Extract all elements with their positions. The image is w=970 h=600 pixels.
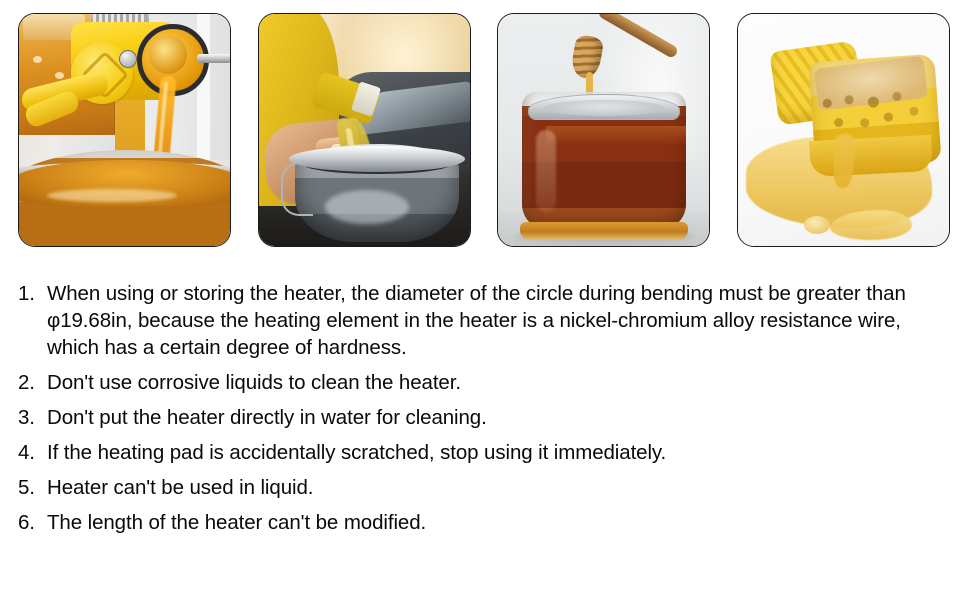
jar-highlight [536, 130, 556, 212]
list-item-number: 4. [18, 439, 47, 466]
list-item-text: Don't put the heater directly in water f… [47, 404, 958, 431]
list-item-number: 2. [18, 369, 47, 396]
list-item: 1. When using or storing the heater, the… [18, 280, 958, 361]
funnel-highlight [325, 190, 409, 224]
funnel-rim [289, 146, 465, 172]
list-item: 5. Heater can't be used in liquid. [18, 474, 958, 501]
list-item-number: 1. [18, 280, 47, 307]
jar-base-honey [520, 222, 688, 240]
photo-honey-jar-with-dipper [497, 13, 710, 247]
valve-rod [197, 54, 230, 63]
list-item: 6. The length of the heater can't be mod… [18, 509, 958, 536]
product-photo-strip [18, 13, 950, 247]
honeycomb-illustration [738, 14, 949, 246]
oil-pour-illustration [259, 14, 470, 246]
valve-screw [119, 50, 137, 68]
list-item: 2. Don't use corrosive liquids to clean … [18, 369, 958, 396]
funnel-handle-wire [281, 162, 313, 216]
product-listing-image: 1. When using or storing the heater, the… [0, 0, 970, 600]
jar-mouth [544, 100, 664, 116]
list-item-text: When using or storing the heater, the di… [47, 280, 958, 361]
photo-honey-gate-valve [18, 13, 231, 247]
honey-jar-illustration [498, 14, 709, 246]
list-item-number: 5. [18, 474, 47, 501]
list-item-number: 6. [18, 509, 47, 536]
list-item-number: 3. [18, 404, 47, 431]
honey-gate-valve-illustration [19, 14, 230, 246]
photo-pouring-oil-into-funnel [258, 13, 471, 247]
honeycomb-lower-edge [809, 135, 933, 177]
usage-precautions-list: 1. When using or storing the heater, the… [18, 280, 958, 536]
list-item-text: The length of the heater can't be modifi… [47, 509, 958, 536]
honey-highlight [47, 189, 177, 202]
list-item: 3. Don't put the heater directly in wate… [18, 404, 958, 431]
valve-outlet-bore [149, 36, 187, 74]
photo-honeycomb-with-honey-pool [737, 13, 950, 247]
honey-droplet [804, 216, 830, 234]
list-item: 4. If the heating pad is accidentally sc… [18, 439, 958, 466]
list-item-text: Heater can't be used in liquid. [47, 474, 958, 501]
list-item-text: Don't use corrosive liquids to clean the… [47, 369, 958, 396]
list-item-text: If the heating pad is accidentally scrat… [47, 439, 958, 466]
